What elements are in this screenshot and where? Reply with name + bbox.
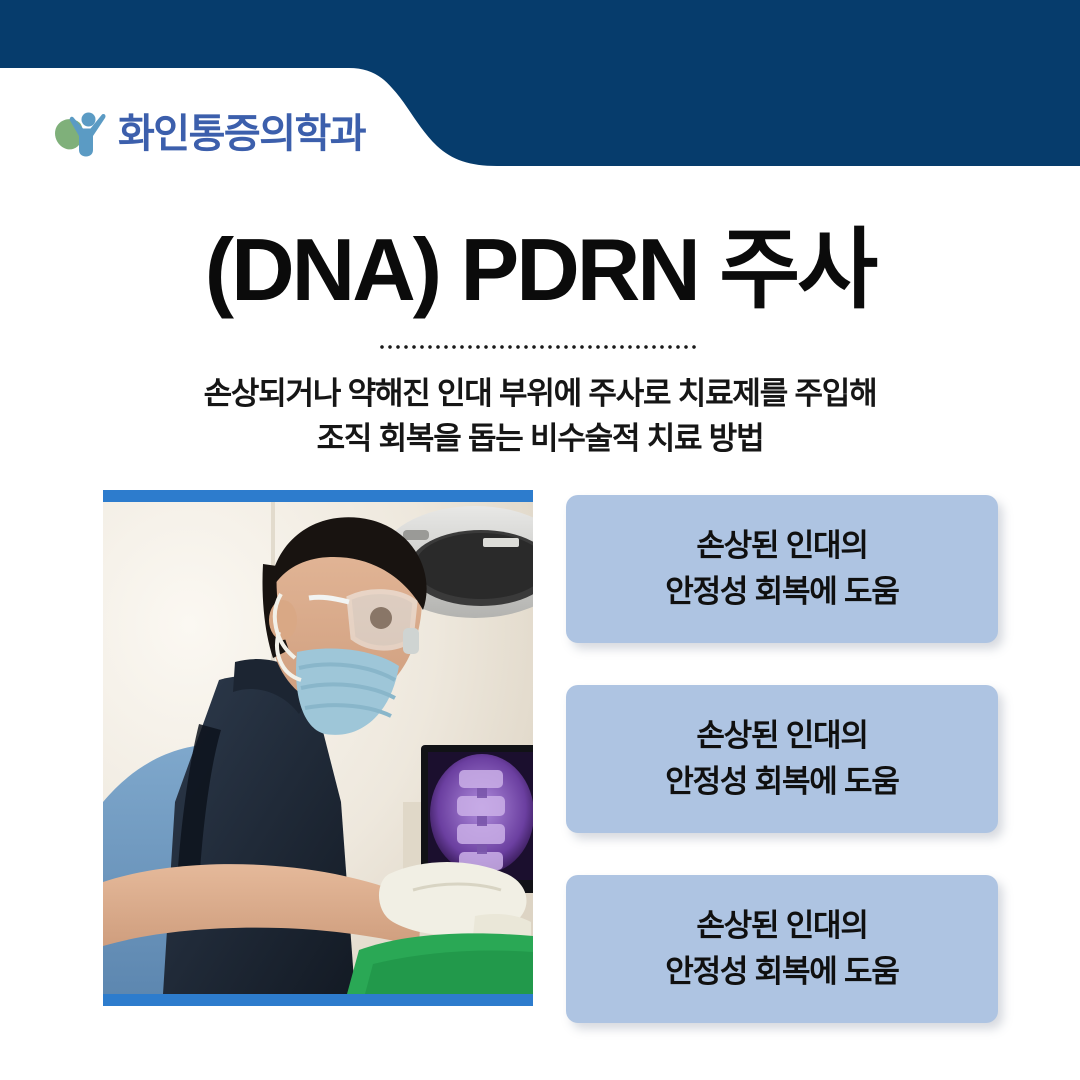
- subtitle-line-2: 조직 회복을 돕는 비수술적 치료 방법: [0, 417, 1080, 462]
- leaf-person-logo-icon: [52, 106, 116, 162]
- page-title: (DNA) PDRN 주사: [0, 224, 1080, 316]
- dotted-divider-icon: [380, 345, 700, 353]
- benefit-card-list: 손상된 인대의 안정성 회복에 도움 손상된 인대의 안정성 회복에 도움 손상…: [566, 495, 998, 1023]
- page-subtitle: 손상되거나 약해진 인대 부위에 주사로 치료제를 주입해 조직 회복을 돕는 …: [0, 372, 1080, 462]
- subtitle-line-1: 손상되거나 약해진 인대 부위에 주사로 치료제를 주입해: [0, 372, 1080, 417]
- benefit-card-line-2: 안정성 회복에 도움: [665, 759, 898, 806]
- benefit-card-line-2: 안정성 회복에 도움: [665, 949, 898, 996]
- benefit-card-line-1: 손상된 인대의: [696, 903, 867, 950]
- procedure-photo-image: [103, 502, 533, 994]
- brand-logo[interactable]: 화인통증의학과: [52, 103, 365, 165]
- poster-root: 화인통증의학과 (DNA) PDRN 주사 손상되거나 약해진 인대 부위에 주…: [0, 0, 1080, 1080]
- benefit-card[interactable]: 손상된 인대의 안정성 회복에 도움: [566, 875, 998, 1023]
- benefit-card-line-1: 손상된 인대의: [696, 523, 867, 570]
- benefit-card[interactable]: 손상된 인대의 안정성 회복에 도움: [566, 495, 998, 643]
- benefit-card-line-2: 안정성 회복에 도움: [665, 569, 898, 616]
- procedure-photo: [103, 490, 533, 1006]
- benefit-card[interactable]: 손상된 인대의 안정성 회복에 도움: [566, 685, 998, 833]
- brand-name: 화인통증의학과: [118, 114, 365, 154]
- benefit-card-line-1: 손상된 인대의: [696, 713, 867, 760]
